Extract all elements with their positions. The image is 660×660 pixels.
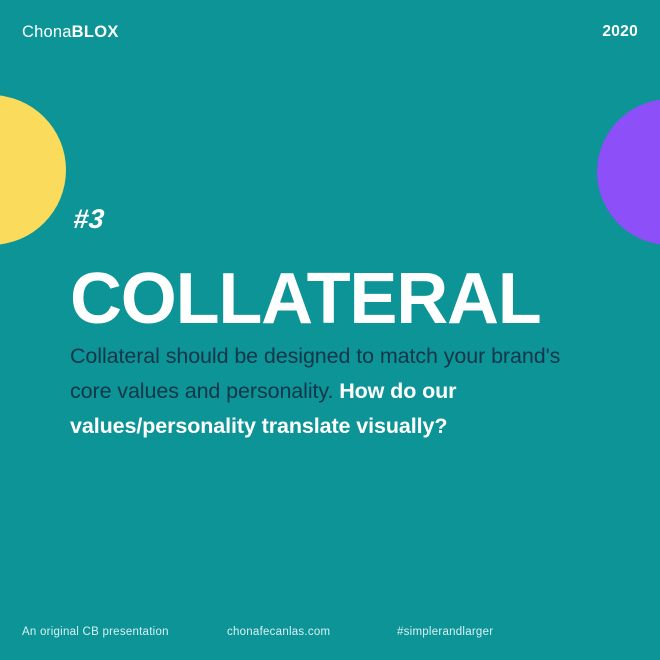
description-primary: Collateral should be designed to match y… <box>70 344 560 403</box>
yellow-circle-decoration <box>0 95 66 245</box>
footer-hashtag[interactable]: #simplerandlarger <box>397 626 597 638</box>
slide-content: #3 COLLATERAL Collateral should be desig… <box>70 206 600 444</box>
purple-circle-decoration <box>597 99 660 245</box>
slide-title: COLLATERAL <box>70 265 600 333</box>
brand-name-light: Chona <box>22 23 72 41</box>
footer-credit: An original CB presentation <box>22 626 227 638</box>
footer-website[interactable]: chonafecanlas.com <box>227 626 397 638</box>
section-number: #3 <box>72 206 106 233</box>
presentation-slide: ChonaBLOX 2020 #3 COLLATERAL Collateral … <box>0 0 660 660</box>
brand-logo: ChonaBLOX <box>22 23 119 42</box>
slide-footer: An original CB presentation chonafecanla… <box>22 626 622 638</box>
slide-header: ChonaBLOX 2020 <box>22 21 638 43</box>
slide-year: 2020 <box>602 23 638 41</box>
slide-description: Collateral should be designed to match y… <box>70 339 590 443</box>
brand-name-bold: BLOX <box>72 23 119 41</box>
